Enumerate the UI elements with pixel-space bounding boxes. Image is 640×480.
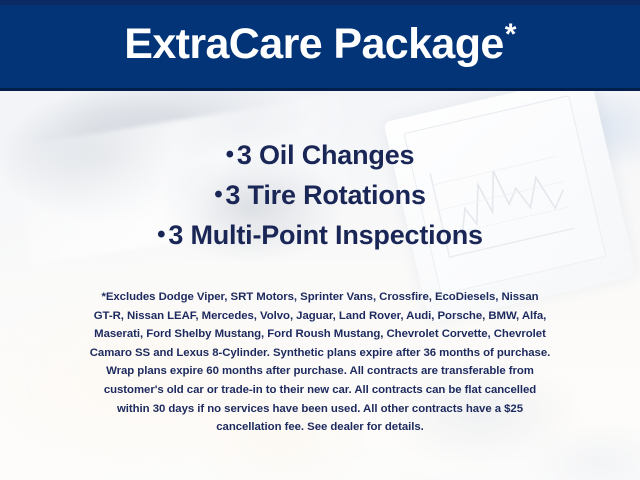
bullet-icon: • <box>214 181 222 208</box>
disclaimer-text: *Excludes Dodge Viper, SRT Motors, Sprin… <box>26 288 614 437</box>
header-bottom-accent-line <box>0 88 640 91</box>
disclaimer-line: GT-R, Nissan LEAF, Mercedes, Volvo, Jagu… <box>26 307 614 326</box>
disclaimer-line: Wrap plans expire 60 months after purcha… <box>26 362 614 381</box>
list-item-label: 3 Tire Rotations <box>225 180 425 210</box>
disclaimer-line: Maserati, Ford Shelby Mustang, Ford Rous… <box>26 325 614 344</box>
page-title-text: ExtraCare Package <box>124 23 503 66</box>
extracare-package-promo: ExtraCare Package* •3 Oil Changes •3 Tir… <box>0 0 640 480</box>
disclaimer-line: customer's old car or trade-in to their … <box>26 381 614 400</box>
list-item-label: 3 Multi-Point Inspections <box>168 220 483 250</box>
list-item-label: 3 Oil Changes <box>237 140 414 170</box>
benefits-list: •3 Oil Changes •3 Tire Rotations •3 Mult… <box>0 136 640 256</box>
disclaimer-line: *Excludes Dodge Viper, SRT Motors, Sprin… <box>26 288 614 307</box>
disclaimer-line: cancellation fee. See dealer for details… <box>26 418 614 437</box>
page-title: ExtraCare Package* <box>0 0 640 88</box>
list-item: •3 Tire Rotations <box>0 176 640 216</box>
bullet-icon: • <box>226 141 234 168</box>
bullet-icon: • <box>157 221 165 248</box>
list-item: •3 Oil Changes <box>0 136 640 176</box>
header-banner: ExtraCare Package* <box>0 0 640 91</box>
disclaimer-line: Camaro SS and Lexus 8-Cylinder. Syntheti… <box>26 344 614 363</box>
list-item: •3 Multi-Point Inspections <box>0 216 640 256</box>
disclaimer-line: within 30 days if no services have been … <box>26 400 614 419</box>
